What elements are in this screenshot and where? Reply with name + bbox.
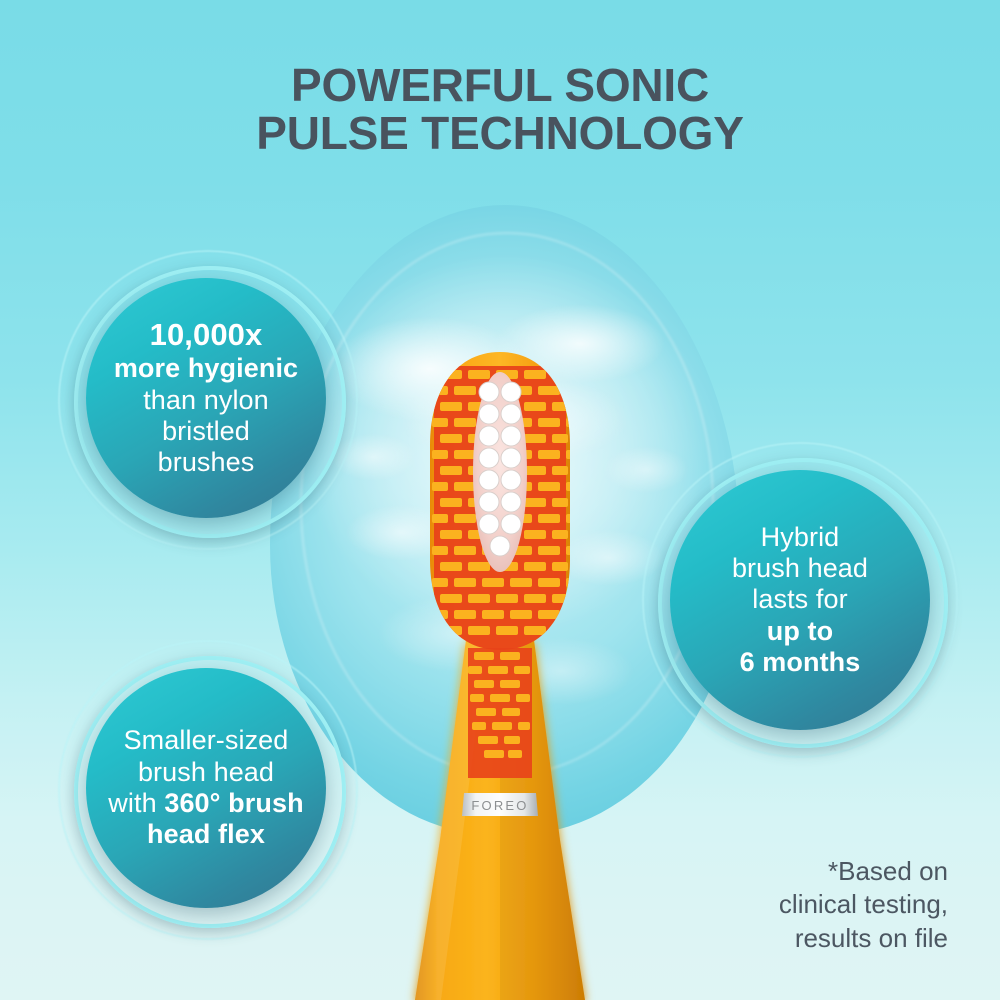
stat-detail-3: brushes bbox=[158, 447, 255, 477]
headline-line-2: PULSE TECHNOLOGY bbox=[0, 110, 1000, 158]
lifespan-line-2: brush head bbox=[732, 553, 868, 583]
feature-circle-flex: Smaller-sized brush head with 360° brush… bbox=[48, 630, 368, 950]
footnote: *Based on clinical testing, results on f… bbox=[688, 855, 948, 955]
lifespan-line-1: Hybrid bbox=[761, 522, 840, 552]
feature-circle-hygienic: 10,000x more hygienic than nylon bristle… bbox=[48, 240, 368, 560]
footnote-line-3: results on file bbox=[688, 922, 948, 955]
page-title: POWERFUL SONIC PULSE TECHNOLOGY bbox=[0, 62, 1000, 158]
circle-text: Smaller-sized brush head with 360° brush… bbox=[98, 725, 313, 850]
lifespan-bold-2: 6 months bbox=[740, 647, 861, 677]
stat-detail-1: than nylon bbox=[143, 385, 269, 415]
stat-value: 10,000x bbox=[114, 317, 298, 353]
footnote-line-2: clinical testing, bbox=[688, 888, 948, 921]
circle-text: 10,000x more hygienic than nylon bristle… bbox=[104, 317, 308, 478]
headline-line-1: POWERFUL SONIC bbox=[0, 62, 1000, 110]
footnote-line-1: *Based on bbox=[688, 855, 948, 888]
infographic-canvas: FOREO POWERFUL SONIC PULSE TECHNOLOGY 10… bbox=[0, 0, 1000, 1000]
circle-disc: Smaller-sized brush head with 360° brush… bbox=[86, 668, 326, 908]
lifespan-bold-1: up to bbox=[767, 616, 833, 646]
flex-line-2: brush head bbox=[138, 757, 274, 787]
lifespan-line-3: lasts for bbox=[752, 584, 847, 614]
circle-disc: Hybrid brush head lasts for up to 6 mont… bbox=[670, 470, 930, 730]
feature-circle-lifespan: Hybrid brush head lasts for up to 6 mont… bbox=[634, 434, 966, 766]
circle-text: Hybrid brush head lasts for up to 6 mont… bbox=[722, 522, 878, 679]
flex-line-3-pre: with bbox=[108, 788, 164, 818]
flex-line-1: Smaller-sized bbox=[124, 725, 289, 755]
flex-line-4-bold: head flex bbox=[147, 819, 265, 849]
stat-detail-2: bristled bbox=[162, 416, 250, 446]
circle-disc: 10,000x more hygienic than nylon bristle… bbox=[86, 278, 326, 518]
flex-line-3-bold: 360° brush bbox=[164, 788, 303, 818]
stat-label: more hygienic bbox=[114, 353, 298, 383]
